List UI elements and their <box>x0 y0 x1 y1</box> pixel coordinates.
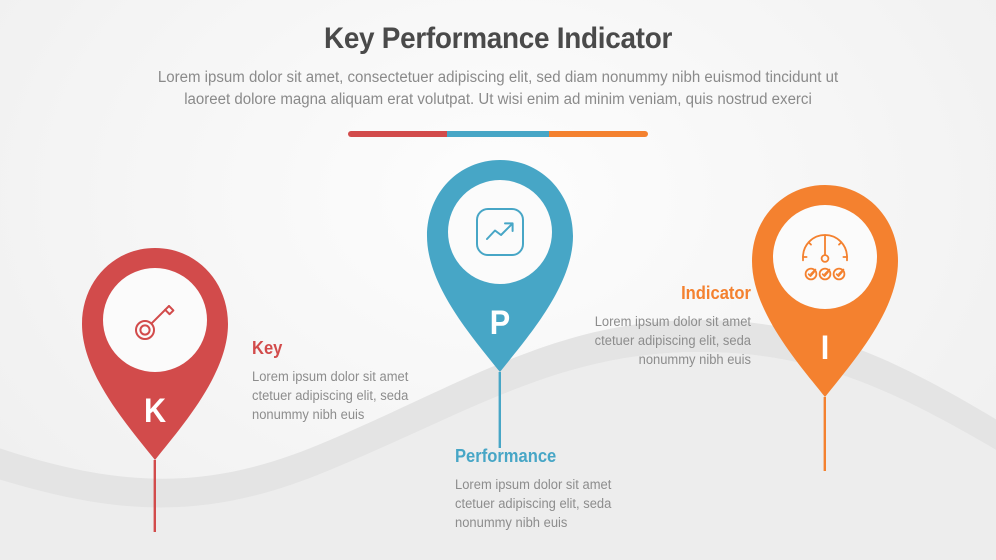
gauge-meter-icon <box>750 227 900 285</box>
body-indicator: Lorem ipsum dolor sit amet ctetuer adipi… <box>553 312 751 369</box>
page-title: Key Performance Indicator <box>35 22 961 57</box>
subtitle-line-1: Lorem ipsum dolor sit amet, consectetuer… <box>71 67 925 89</box>
page-subtitle: Lorem ipsum dolor sit amet, consectetuer… <box>71 67 925 112</box>
divider-segment-orange <box>549 131 648 137</box>
subtitle-line-2: laoreet dolore magna aliquam erat volutp… <box>71 89 925 111</box>
text-block-indicator: Indicator Lorem ipsum dolor sit amet cte… <box>545 283 751 369</box>
body-key: Lorem ipsum dolor sit amet ctetuer adipi… <box>252 367 450 424</box>
pin-letter-indicator: I <box>758 331 893 365</box>
divider-segment-blue <box>447 131 549 137</box>
divider-segment-red <box>348 131 447 137</box>
color-divider-bar <box>348 131 648 137</box>
trending-up-chart-icon <box>425 206 575 258</box>
text-block-performance: Performance Lorem ipsum dolor sit amet c… <box>455 446 661 532</box>
text-block-key: Key Lorem ipsum dolor sit amet ctetuer a… <box>252 338 458 424</box>
key-icon <box>80 292 230 348</box>
header: Key Performance Indicator Lorem ipsum do… <box>0 22 996 111</box>
pin-letter-key: K <box>88 394 223 428</box>
heading-performance: Performance <box>455 446 645 468</box>
pin-shape-key <box>80 246 230 536</box>
heading-indicator: Indicator <box>561 283 751 305</box>
heading-key: Key <box>252 338 442 360</box>
infographic-canvas: Key Performance Indicator Lorem ipsum do… <box>0 0 996 560</box>
body-performance: Lorem ipsum dolor sit amet ctetuer adipi… <box>455 475 653 532</box>
pin-marker-indicator[interactable]: I <box>750 183 900 473</box>
pin-marker-key[interactable]: K <box>80 246 230 536</box>
